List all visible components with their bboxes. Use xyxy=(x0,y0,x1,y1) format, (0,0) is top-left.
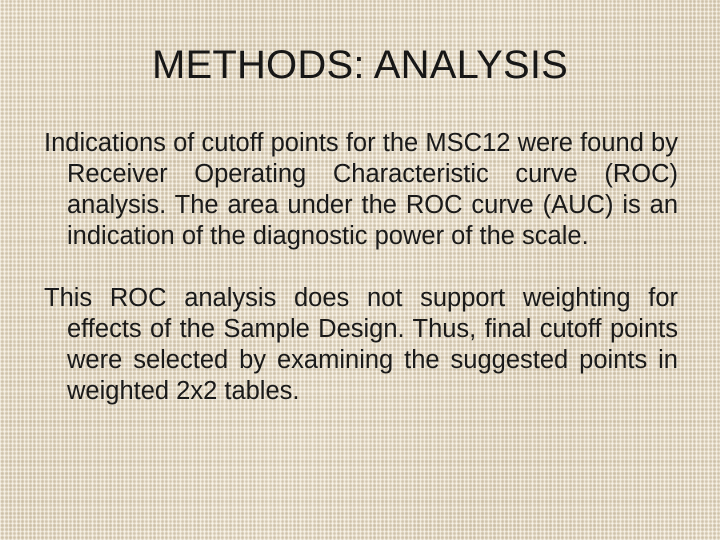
presentation-slide: METHODS: ANALYSIS Indications of cutoff … xyxy=(0,0,720,540)
paragraph-spacer xyxy=(44,252,678,283)
body-paragraph-1: Indications of cutoff points for the MSC… xyxy=(44,128,678,252)
body-paragraph-2: This ROC analysis does not support weigh… xyxy=(44,283,678,407)
slide-body: Indications of cutoff points for the MSC… xyxy=(44,128,678,407)
slide-title: METHODS: ANALYSIS xyxy=(0,42,720,88)
slide-content: METHODS: ANALYSIS Indications of cutoff … xyxy=(0,0,720,540)
